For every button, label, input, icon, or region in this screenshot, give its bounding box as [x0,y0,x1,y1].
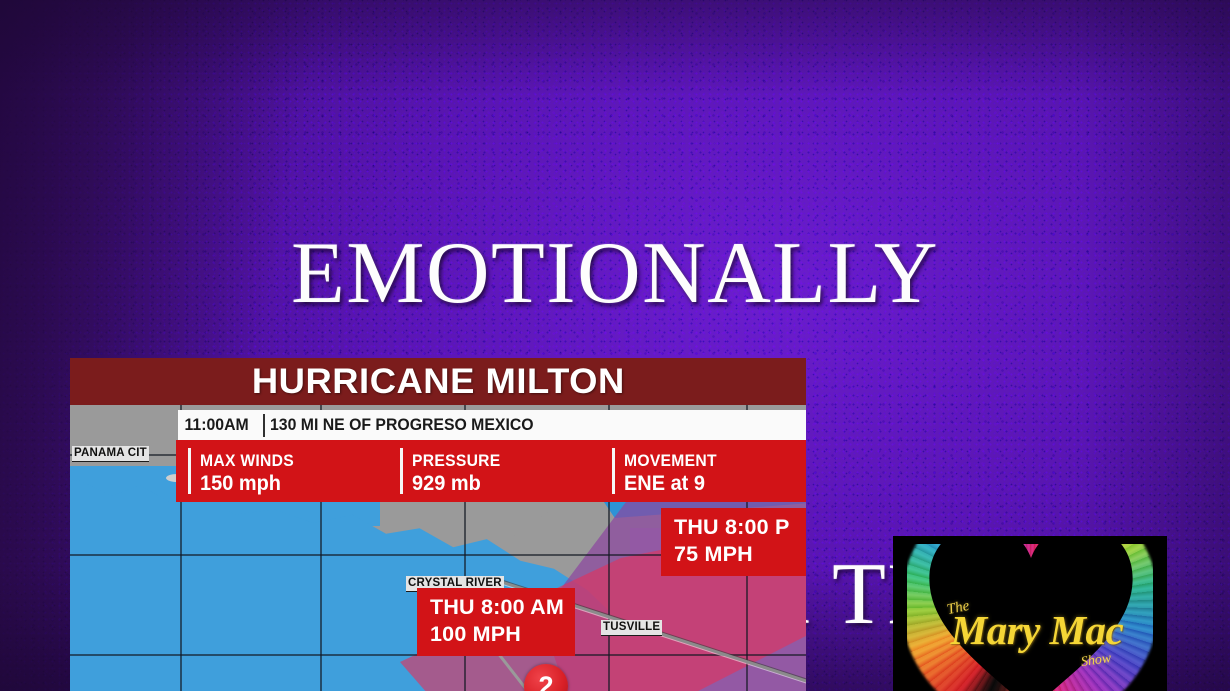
stat-label: MAX WINDS [200,451,294,471]
mary-mac-show-logo: The Mary Mac Show [893,536,1167,691]
stat-divider [612,448,615,494]
advisory-time: 11:00AM [178,415,249,435]
map-gridline-vertical [180,358,182,691]
storm-stats-panel: MAX WINDS 150 mph PRESSURE 929 mb MOVEME… [176,440,806,502]
map-title-text: HURRICANE MILTON [251,362,624,402]
map-city-label-titusville: TUSVILLE [601,620,662,636]
stat-max-winds: MAX WINDS 150 mph [176,440,388,502]
hurricane-map-graphic: PANAMA CIT CRYSTAL RIVER TUSVILLE 2 THU … [70,358,806,691]
stat-value: 150 mph [200,471,294,496]
forecast-callout-wind: 75 MPH [674,541,806,568]
stat-movement: MOVEMENT ENE at 9 [600,440,806,502]
forecast-callout-thu-am: THU 8:00 AM 100 MPH [417,588,575,656]
map-gridline-vertical [320,358,322,691]
stat-divider [188,448,191,494]
stat-value: ENE at 9 [624,471,717,496]
stat-divider [400,448,403,494]
stat-pressure: PRESSURE 929 mb [388,440,600,502]
stat-label: PRESSURE [412,451,501,471]
map-city-label-panama-city: PANAMA CIT [72,446,149,462]
stat-value: 929 mb [412,471,501,496]
map-title-bar: HURRICANE MILTON [70,358,806,405]
logo-edge-mask-right [1153,536,1167,691]
advisory-strip: 11:00AM 130 MI NE OF PROGRESO MEXICO [178,410,806,440]
logo-name-text: Mary Mac [937,608,1137,652]
forecast-callout-time: THU 8:00 AM [430,594,564,621]
slide-canvas: EMOTIONALLY PREPARE FOR THE UNTHINKABLE [0,0,1230,691]
forecast-callout-thu-pm: THU 8:00 P 75 MPH [661,508,806,576]
map-gridline-vertical [608,358,610,691]
logo-edge-mask-top [893,536,1167,544]
logo-edge-mask-left [893,536,907,691]
forecast-callout-wind: 100 MPH [430,621,564,648]
stat-label: MOVEMENT [624,451,717,471]
advisory-divider [263,414,265,437]
forecast-callout-time: THU 8:00 P [674,514,806,541]
advisory-location: 130 MI NE OF PROGRESO MEXICO [270,415,534,435]
headline-line-1: EMOTIONALLY [0,220,1230,327]
